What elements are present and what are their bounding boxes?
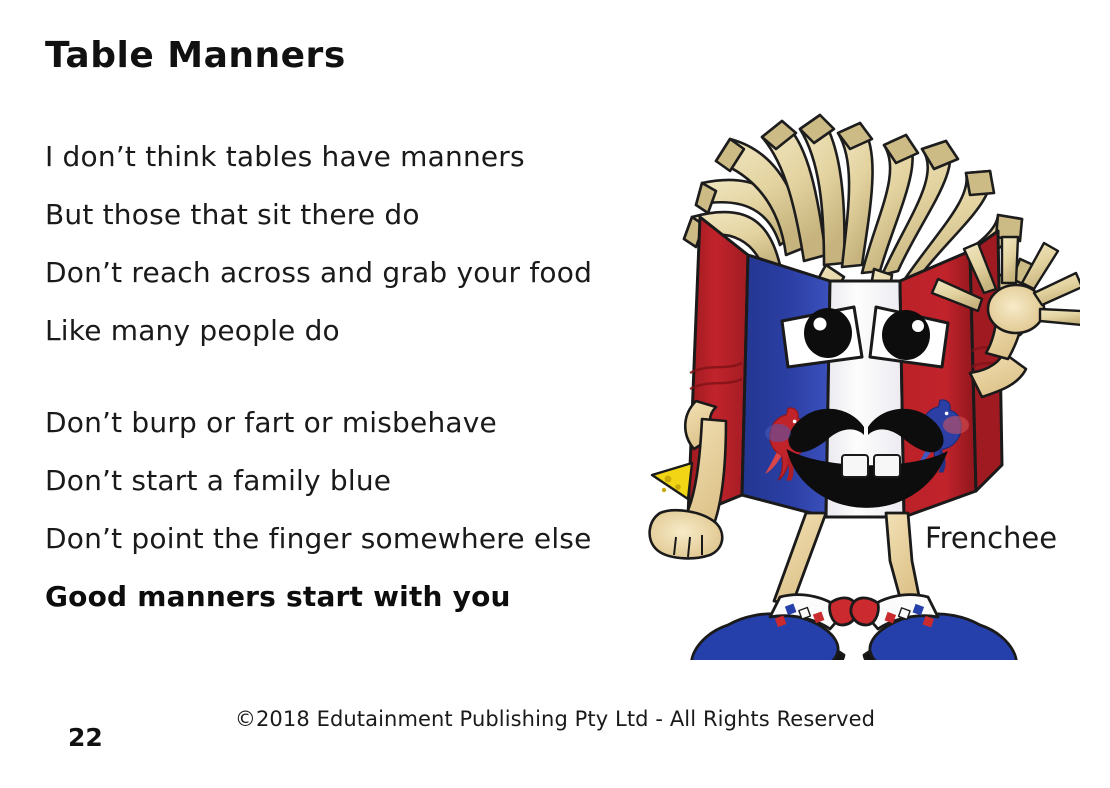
- poem-line: Don’t burp or fart or misbehave: [45, 394, 625, 452]
- cheek-blush-right: [943, 416, 969, 434]
- poem-stanza: Don’t burp or fart or misbehave Don’t st…: [45, 394, 625, 626]
- character-name-label: Frenchee: [925, 521, 1057, 555]
- copyright-notice: ©2018 Edutainment Publishing Pty Ltd - A…: [0, 707, 1110, 731]
- book-page: Table Manners I don’t think tables have …: [0, 0, 1110, 788]
- poem-line: Don’t point the finger somewhere else: [45, 510, 625, 568]
- poem-line: Don’t reach across and grab your food: [45, 244, 625, 302]
- cheese-wedge-badge: [652, 463, 692, 499]
- cheek-blush-left: [765, 424, 791, 442]
- left-shoe: [691, 595, 857, 660]
- left-arm: [650, 401, 726, 558]
- page-title: Table Manners: [45, 35, 346, 76]
- poem-line: I don’t think tables have manners: [45, 128, 625, 186]
- poem-stanza: I don’t think tables have manners But th…: [45, 128, 625, 360]
- right-leg: [886, 513, 920, 605]
- frenchee-character-illustration: [630, 105, 1080, 660]
- left-leg: [774, 513, 826, 605]
- poem-body: I don’t think tables have manners But th…: [45, 128, 625, 626]
- poem-line: Don’t start a family blue: [45, 452, 625, 510]
- tooth: [842, 455, 868, 477]
- poem-line-emphasis: Good manners start with you: [45, 568, 625, 626]
- legs: [774, 513, 920, 605]
- poem-line: Like many people do: [45, 302, 625, 360]
- tooth: [874, 455, 900, 477]
- right-shoe: [851, 595, 1017, 660]
- poem-line: But those that sit there do: [45, 186, 625, 244]
